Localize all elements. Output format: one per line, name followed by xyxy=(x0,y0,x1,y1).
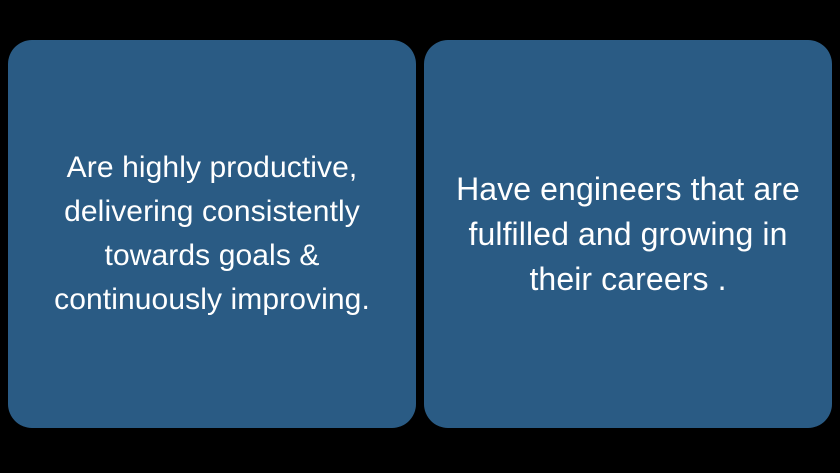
card-productivity-text: Are highly productive, delivering consis… xyxy=(14,146,410,322)
card-productivity[interactable]: Are highly productive, delivering consis… xyxy=(8,40,416,428)
slide-canvas: Are highly productive, delivering consis… xyxy=(0,0,840,473)
card-engineers-text: Have engineers that are fulfilled and gr… xyxy=(438,167,818,302)
card-engineers[interactable]: Have engineers that are fulfilled and gr… xyxy=(424,40,832,428)
